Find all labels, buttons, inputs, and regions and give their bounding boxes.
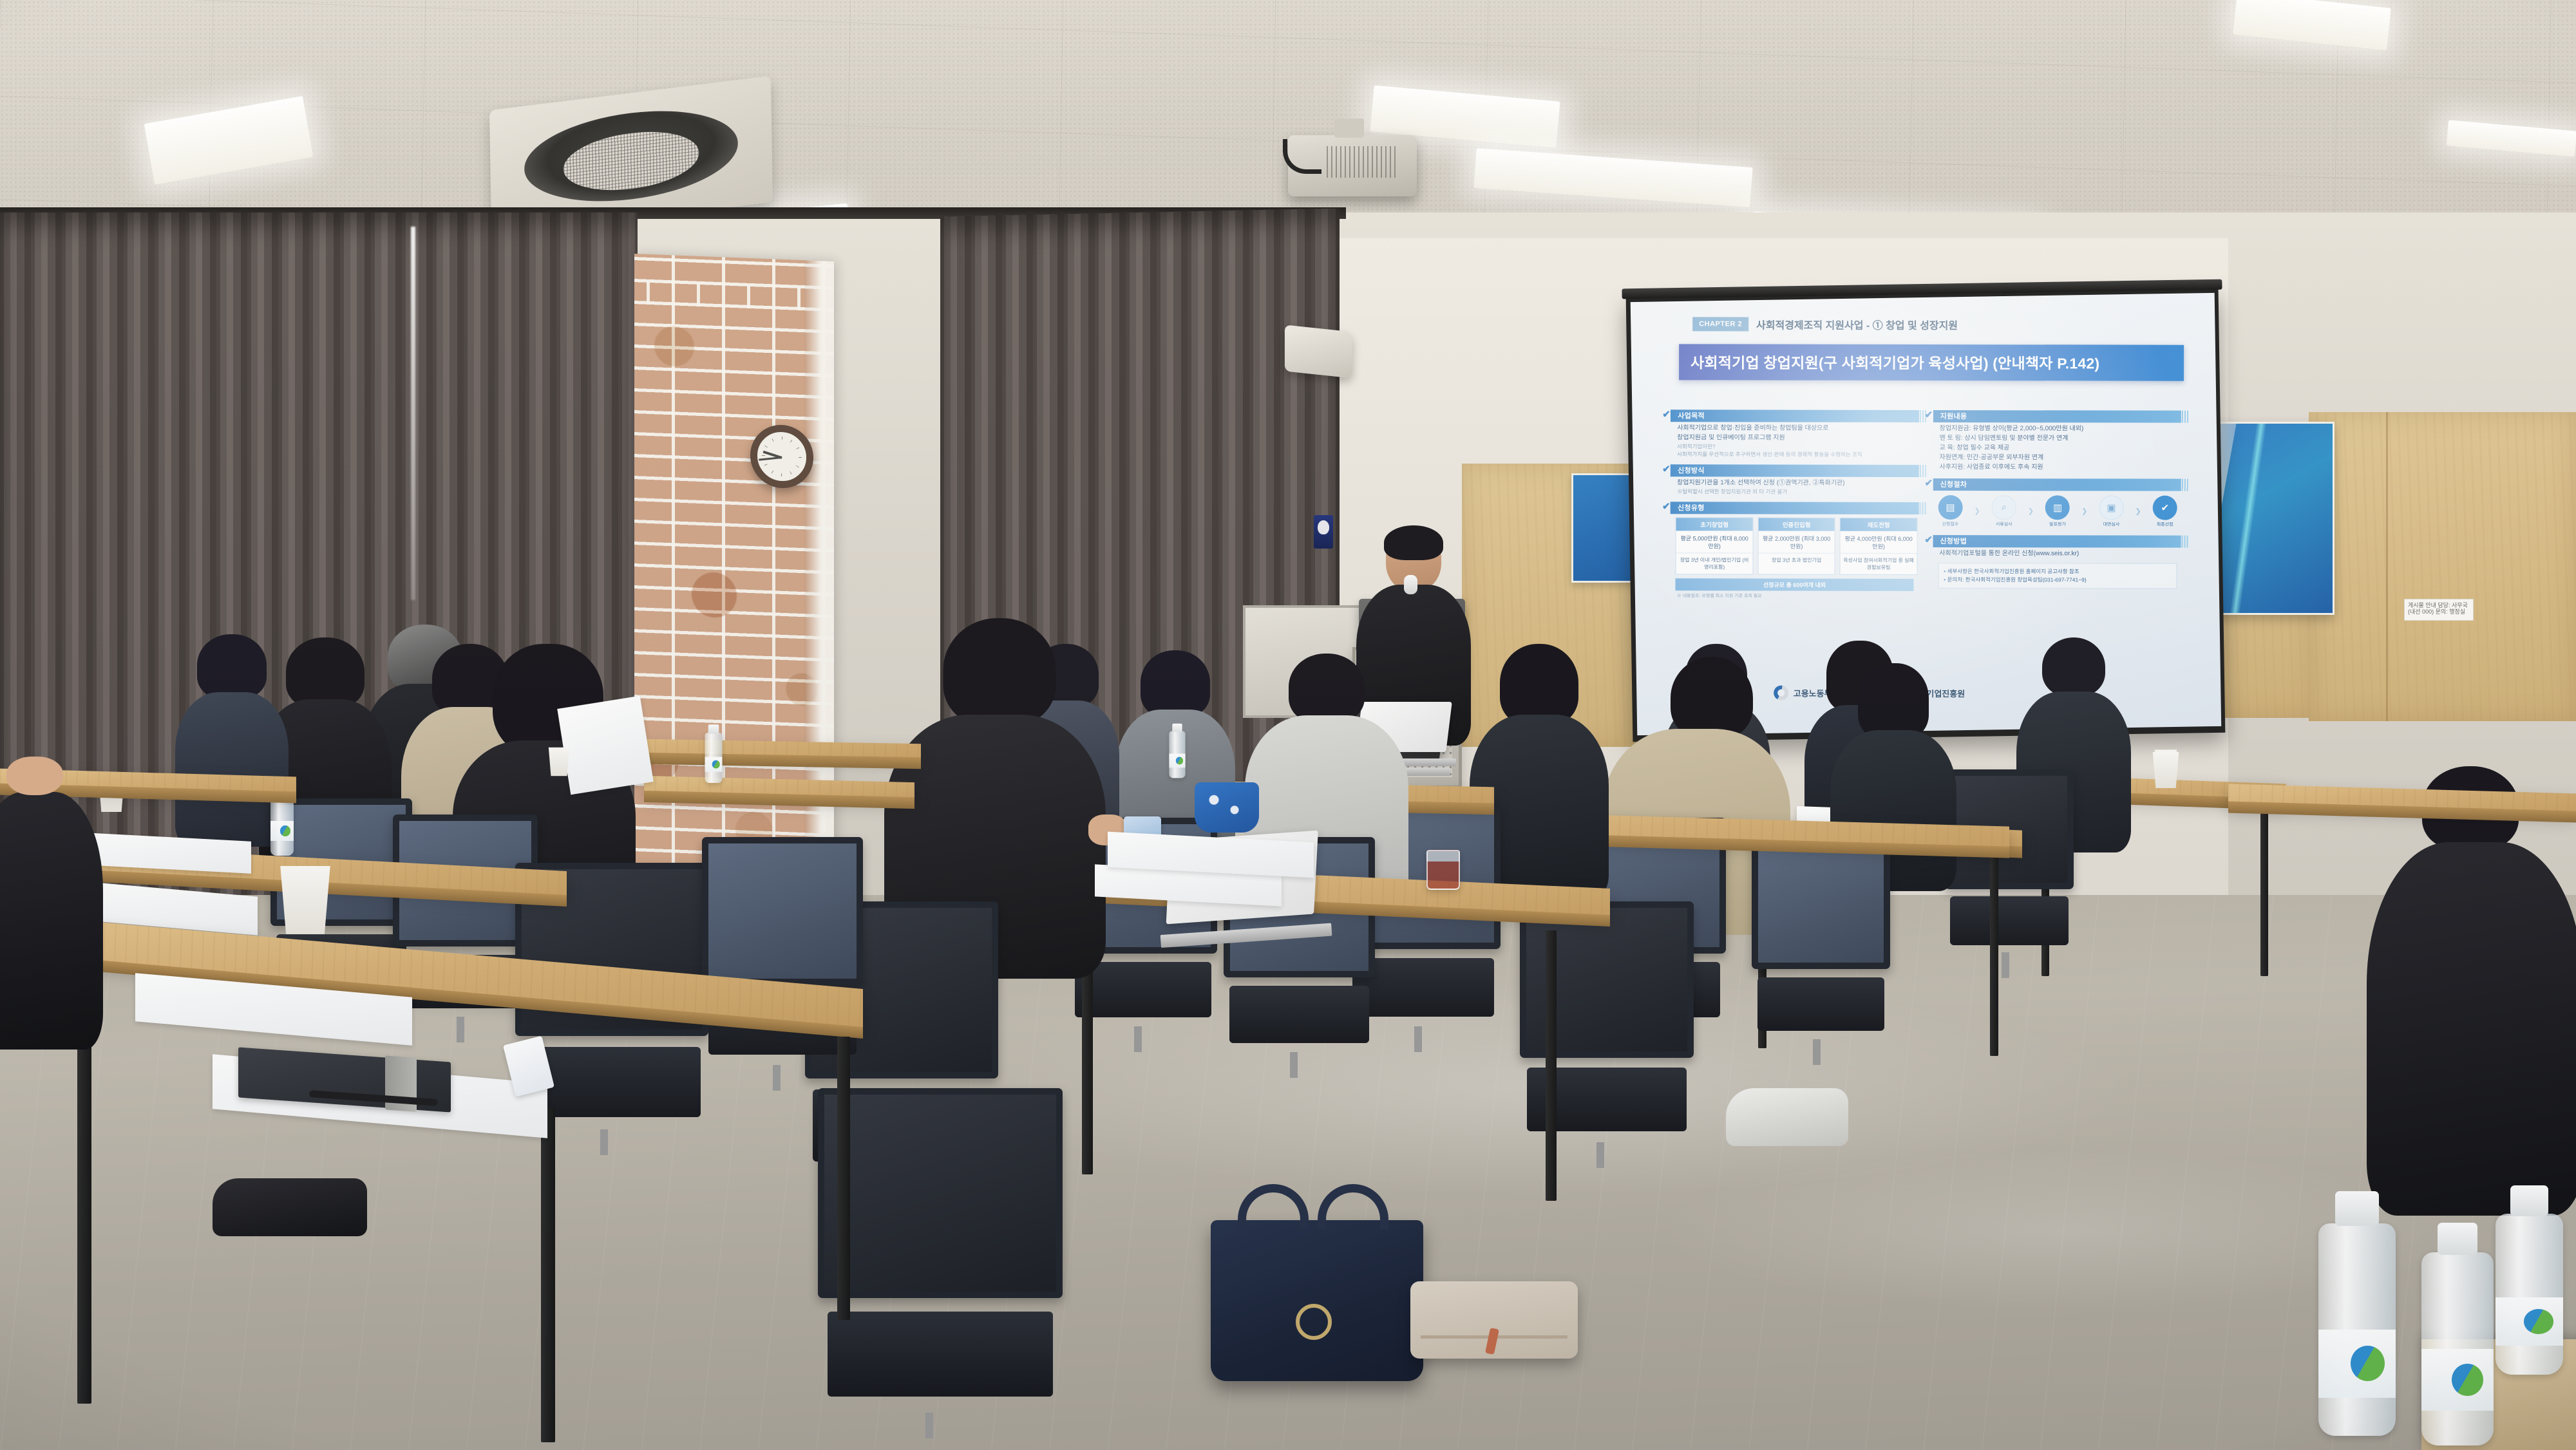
chapter-chip: CHAPTER 2 [1692, 317, 1748, 332]
section-line: 사회적기업포털을 통한 온라인 신청(www.seis.or.kr) [1939, 549, 2178, 559]
presentation-icon: ▥ [2045, 495, 2070, 520]
check-icon: ✔ [1662, 408, 1671, 420]
section-line: 사후지원: 사업종료 이후에도 후속 지원 [1939, 463, 2178, 473]
section-body: 사회적기업으로 창업·진입을 준비하는 창업팀을 대상으로 창업지원금 및 인큐… [1671, 422, 1919, 458]
type-card-caption: 인증진입형 [1758, 518, 1835, 531]
slide-right-column: ✔ 지원내용 창업지원금: 유형별 상이(평균 2,000~5,000만원 내외… [1933, 410, 2181, 642]
procedure-step-label: 서류심사 [1996, 521, 2012, 527]
section-subnote: 사회적가치를 우선적으로 추구하면서 생산·판매 등의 경제적 활동을 수행하는… [1677, 451, 1916, 458]
selection-scale-bar: 선정규모 총 600여개 내외 [1676, 578, 1913, 591]
type-card-desc: 창업 3년 초과 법인기업 [1770, 554, 1823, 567]
attendee-hair [1141, 650, 1210, 717]
procedure-steps: ▤ 신청접수 ❯ ⌕ 서류심사 ❯ ▥ [1933, 491, 2181, 530]
slide-section-apply-types: ✔ 신청유형 초기창업형 평균 5,000만원 (최대 8,000만원) 창업 … [1670, 502, 1918, 599]
attendee-hair [286, 637, 365, 708]
procedure-step: ▥ 발표평가 [2045, 495, 2070, 527]
column-corner-highlight [804, 260, 834, 912]
pouch-zipper-pull [1485, 1328, 1499, 1355]
handbag-logo-medallion [1296, 1304, 1332, 1340]
type-card: 재도전형 평균 4,000만원 (최대 6,000만원) 육성사업 참여사회적기… [1840, 518, 1918, 575]
paper-cup-right [2151, 752, 2181, 788]
slide-section-apply-method: ✔ 신청방식 창업지원기관을 1개소 선택하여 신청 (①권역기관, ②특화기관… [1671, 464, 1919, 496]
section-line: 창업지원금: 유형별 상이(평균 2,000~5,000만원 내외) [1939, 424, 2178, 434]
slide-eyebrow: CHAPTER 2 사회적경제조직 지원사업 - ① 창업 및 성장지원 [1692, 317, 1958, 333]
water-bottle-left-3 [1169, 731, 1185, 778]
type-card-caption: 초기창업형 [1676, 518, 1753, 531]
wall-pa-speaker [1285, 325, 1352, 378]
presenter-hair [1384, 525, 1443, 560]
type-card: 인증진입형 평균 2,000만원 (최대 3,000만원) 창업 3년 초과 법… [1757, 518, 1835, 575]
attendee-hair [1671, 657, 1753, 739]
table-leg [1990, 850, 1998, 1056]
section-header: ✔ 사업목적 [1671, 410, 1918, 422]
type-card-desc: 창업 3년 이내 개인/법인기업 (비영리포함) [1676, 553, 1753, 574]
section-line: 창업지원금 및 인큐베이팅 프로그램 지원 [1677, 433, 1916, 443]
projector-vents [1327, 146, 1399, 178]
attendee-hair [943, 618, 1056, 726]
section-title: 신청절차 [1933, 479, 1967, 489]
section-title: 신청유형 [1671, 503, 1705, 513]
chevron-right-icon: ❯ [1974, 507, 1980, 516]
table-leg [837, 1037, 850, 1320]
section-body: 사회적기업포털을 통한 온라인 신청(www.seis.or.kr) [1933, 547, 2181, 559]
check-icon: ✔ [1924, 409, 1933, 421]
interview-icon: ▣ [2099, 495, 2123, 520]
seminar-room-photo: 게시물 안내 담당: 사무국 (내선 000) 문의: 행정실 CHAPTER … [0, 0, 2576, 1450]
section-body: 창업지원금: 유형별 상이(평균 2,000~5,000만원 내외) 멘 토 링… [1933, 422, 2181, 473]
handheld-microphone [1404, 575, 1417, 594]
attendee-foreground-right-edge [2370, 766, 2576, 1217]
chevron-right-icon: ❯ [2135, 507, 2141, 516]
slide-note-box: 세부사항은 한국사회적기업진흥원 홈페이지 공고사항 참조 문의처: 한국사회적… [1938, 563, 2177, 589]
slide-section-how-to-apply: ✔ 신청방법 사회적기업포털을 통한 온라인 신청(www.seis.or.kr… [1933, 535, 2181, 589]
slide-left-column: ✔ 사업목적 사회적기업으로 창업·진입을 준비하는 창업팀을 대상으로 창업지… [1670, 410, 1918, 641]
attendee-hand-left-edge [6, 757, 63, 795]
table-leg [1546, 930, 1557, 1201]
attendee-foreground-left-edge [0, 766, 103, 1043]
section-body: 창업지원기관을 1개소 선택하여 신청 (①권역기관, ②특화기관) ※탈락할시… [1671, 476, 1918, 496]
ceiling-projector [1288, 135, 1417, 196]
award-badge-icon: ✔ [2153, 496, 2177, 520]
section-subnote: ※탈락할시 선택한 창업지원기관 외 타 기관 불가 [1677, 488, 1916, 496]
note-line: 문의처: 한국사회적기업진흥원 창업육성팀(031-697-7741~9) [1944, 576, 2171, 585]
procedure-step: ▣ 대면심사 [2099, 495, 2123, 527]
check-icon: ✔ [1924, 477, 1933, 489]
section-line: 자원연계: 민간·공공부문 외부자원 연계 [1939, 453, 2178, 463]
attendee-torso [2367, 842, 2576, 1216]
section-line: 멘 토 링: 상시 담임멘토링 및 분야별 전문가 연계 [1939, 434, 2178, 444]
type-card: 초기창업형 평균 5,000만원 (최대 8,000만원) 창업 3년 이내 개… [1676, 517, 1754, 574]
procedure-step-label: 대면심사 [2103, 521, 2119, 527]
magnifier-document-icon: ⌕ [1991, 495, 2016, 520]
beige-laptop-sleeve[interactable] [1410, 1281, 1578, 1359]
section-bars-icon [2182, 479, 2188, 491]
section-line: 사회적기업으로 창업·진입을 준비하는 창업팀을 대상으로 [1677, 424, 1916, 433]
procedure-step: ⌕ 서류심사 [1991, 495, 2016, 527]
section-bars-icon [2181, 536, 2188, 548]
type-card-desc: 육성사업 참여사회적기업 중 실패경험보유팀 [1841, 554, 1917, 574]
wall-notice-label: 게시물 안내 담당: 사무국 (내선 000) 문의: 행정실 [2404, 599, 2474, 621]
table-leg [77, 1043, 91, 1404]
plywood-wall-panel-right: 게시물 안내 담당: 사무국 (내선 000) 문의: 행정실 [2309, 412, 2576, 721]
handout-held-left [557, 696, 654, 795]
table-leg [541, 1107, 555, 1442]
type-card-amount: 평균 4,000만원 (최대 6,000만원) [1841, 531, 1917, 554]
check-icon: ✔ [1662, 500, 1671, 513]
section-header: ✔ 신청유형 [1671, 502, 1918, 514]
type-card-row: 초기창업형 평균 5,000만원 (최대 8,000만원) 창업 3년 이내 개… [1671, 514, 1919, 575]
blue-polka-dot-pouch [1195, 782, 1259, 833]
chair-right-2 [1752, 837, 1890, 1043]
glass-of-tea [1426, 850, 1460, 890]
slide-section-support-content: ✔ 지원내용 창업지원금: 유형별 상이(평균 2,000~5,000만원 내외… [1933, 410, 2181, 473]
attendee-torso [0, 792, 103, 1050]
section-bars-icon [1919, 502, 1926, 514]
paper-cup-left-3[interactable] [277, 866, 334, 934]
type-card-amount: 평균 5,000만원 (최대 8,000만원) [1676, 531, 1753, 553]
plywood-seam [2386, 412, 2388, 721]
procedure-step: ✔ 최종선정 [2152, 496, 2177, 528]
section-header: ✔ 신청방식 [1671, 464, 1918, 477]
procedure-step-label: 신청접수 [1942, 521, 1958, 527]
bottled-water-floor-2[interactable] [2421, 1252, 2494, 1445]
navy-leather-handbag[interactable] [1211, 1220, 1423, 1381]
curtain-light-gap [411, 227, 415, 600]
slide-title: 사회적기업 창업지원(구 사회적기업가 육성사업) (안내책자 P.142) [1679, 344, 2184, 381]
slide-eyebrow-text: 사회적경제조직 지원사업 - ① 창업 및 성장지원 [1756, 317, 1958, 333]
document-icon: ▤ [1938, 495, 1962, 520]
section-bars-icon [1919, 465, 1926, 477]
section-title: 신청방법 [1933, 536, 1967, 546]
section-header: ✔ 지원내용 [1933, 410, 2181, 423]
attendee-hair [1500, 644, 1578, 725]
section-title: 지원내용 [1933, 411, 1967, 421]
shoes-under-table [213, 1178, 367, 1236]
procedure-step-label: 최종선정 [2157, 522, 2173, 528]
chair-center-empty[interactable] [818, 1088, 1063, 1417]
table-leg [2260, 796, 2268, 976]
section-title: 사업목적 [1671, 411, 1705, 421]
procedure-step-label: 발표평가 [2049, 521, 2066, 527]
attendee-hair [197, 634, 267, 699]
water-bottle-left-2 [705, 733, 723, 783]
paper-cup-left-2 [547, 748, 571, 777]
procedure-step: ▤ 신청접수 [1938, 495, 1962, 527]
section-title: 신청방식 [1671, 466, 1705, 476]
bottled-water-floor-3[interactable] [2495, 1214, 2563, 1375]
chevron-right-icon: ❯ [2028, 507, 2034, 516]
section-subnote: 사회적기업이란? [1677, 443, 1916, 451]
slide-content: CHAPTER 2 사회적경제조직 지원사업 - ① 창업 및 성장지원 사회적… [1654, 317, 2198, 690]
check-icon: ✔ [1662, 463, 1671, 475]
attendee-hair [1858, 663, 1929, 739]
section-header: ✔ 신청방법 [1933, 535, 2181, 548]
exit-sign [1314, 515, 1333, 549]
bottled-water-floor-1[interactable] [2318, 1223, 2396, 1436]
slide-section-purpose: ✔ 사업목적 사회적기업으로 창업·진입을 준비하는 창업팀을 대상으로 창업지… [1671, 410, 1919, 459]
section-line: 창업지원기관을 1개소 선택하여 신청 (①권역기관, ②특화기관) [1677, 478, 1916, 488]
slide-section-procedure: ✔ 신청절차 ▤ 신청접수 ❯ [1933, 478, 2181, 530]
note-line: 세부사항은 한국사회적기업진흥원 홈페이지 공고사항 참조 [1944, 567, 2171, 576]
check-icon: ✔ [1924, 534, 1933, 546]
brick-clad-column [634, 254, 834, 912]
section-header: ✔ 신청절차 [1933, 478, 2181, 491]
attendee-hair [1289, 654, 1365, 723]
attendee-hair [2042, 637, 2105, 697]
chevron-right-icon: ❯ [2081, 507, 2087, 516]
white-sneaker [1726, 1088, 1848, 1146]
type-card-amount: 평균 2,000만원 (최대 3,000만원) [1758, 531, 1835, 554]
slide-footnote: ※ 내용참조: 유형별 최소 지원 기준 충족 필요 [1670, 590, 1918, 599]
type-card-caption: 재도전형 [1841, 518, 1917, 531]
projector-cable [1283, 139, 1321, 174]
section-line: 교 육: 창업 필수 교육 제공 [1939, 444, 2178, 453]
section-bars-icon [2182, 411, 2188, 423]
slide-columns: ✔ 사업목적 사회적기업으로 창업·진입을 준비하는 창업팀을 대상으로 창업지… [1670, 410, 2181, 641]
chair-back-right [1945, 769, 2074, 956]
